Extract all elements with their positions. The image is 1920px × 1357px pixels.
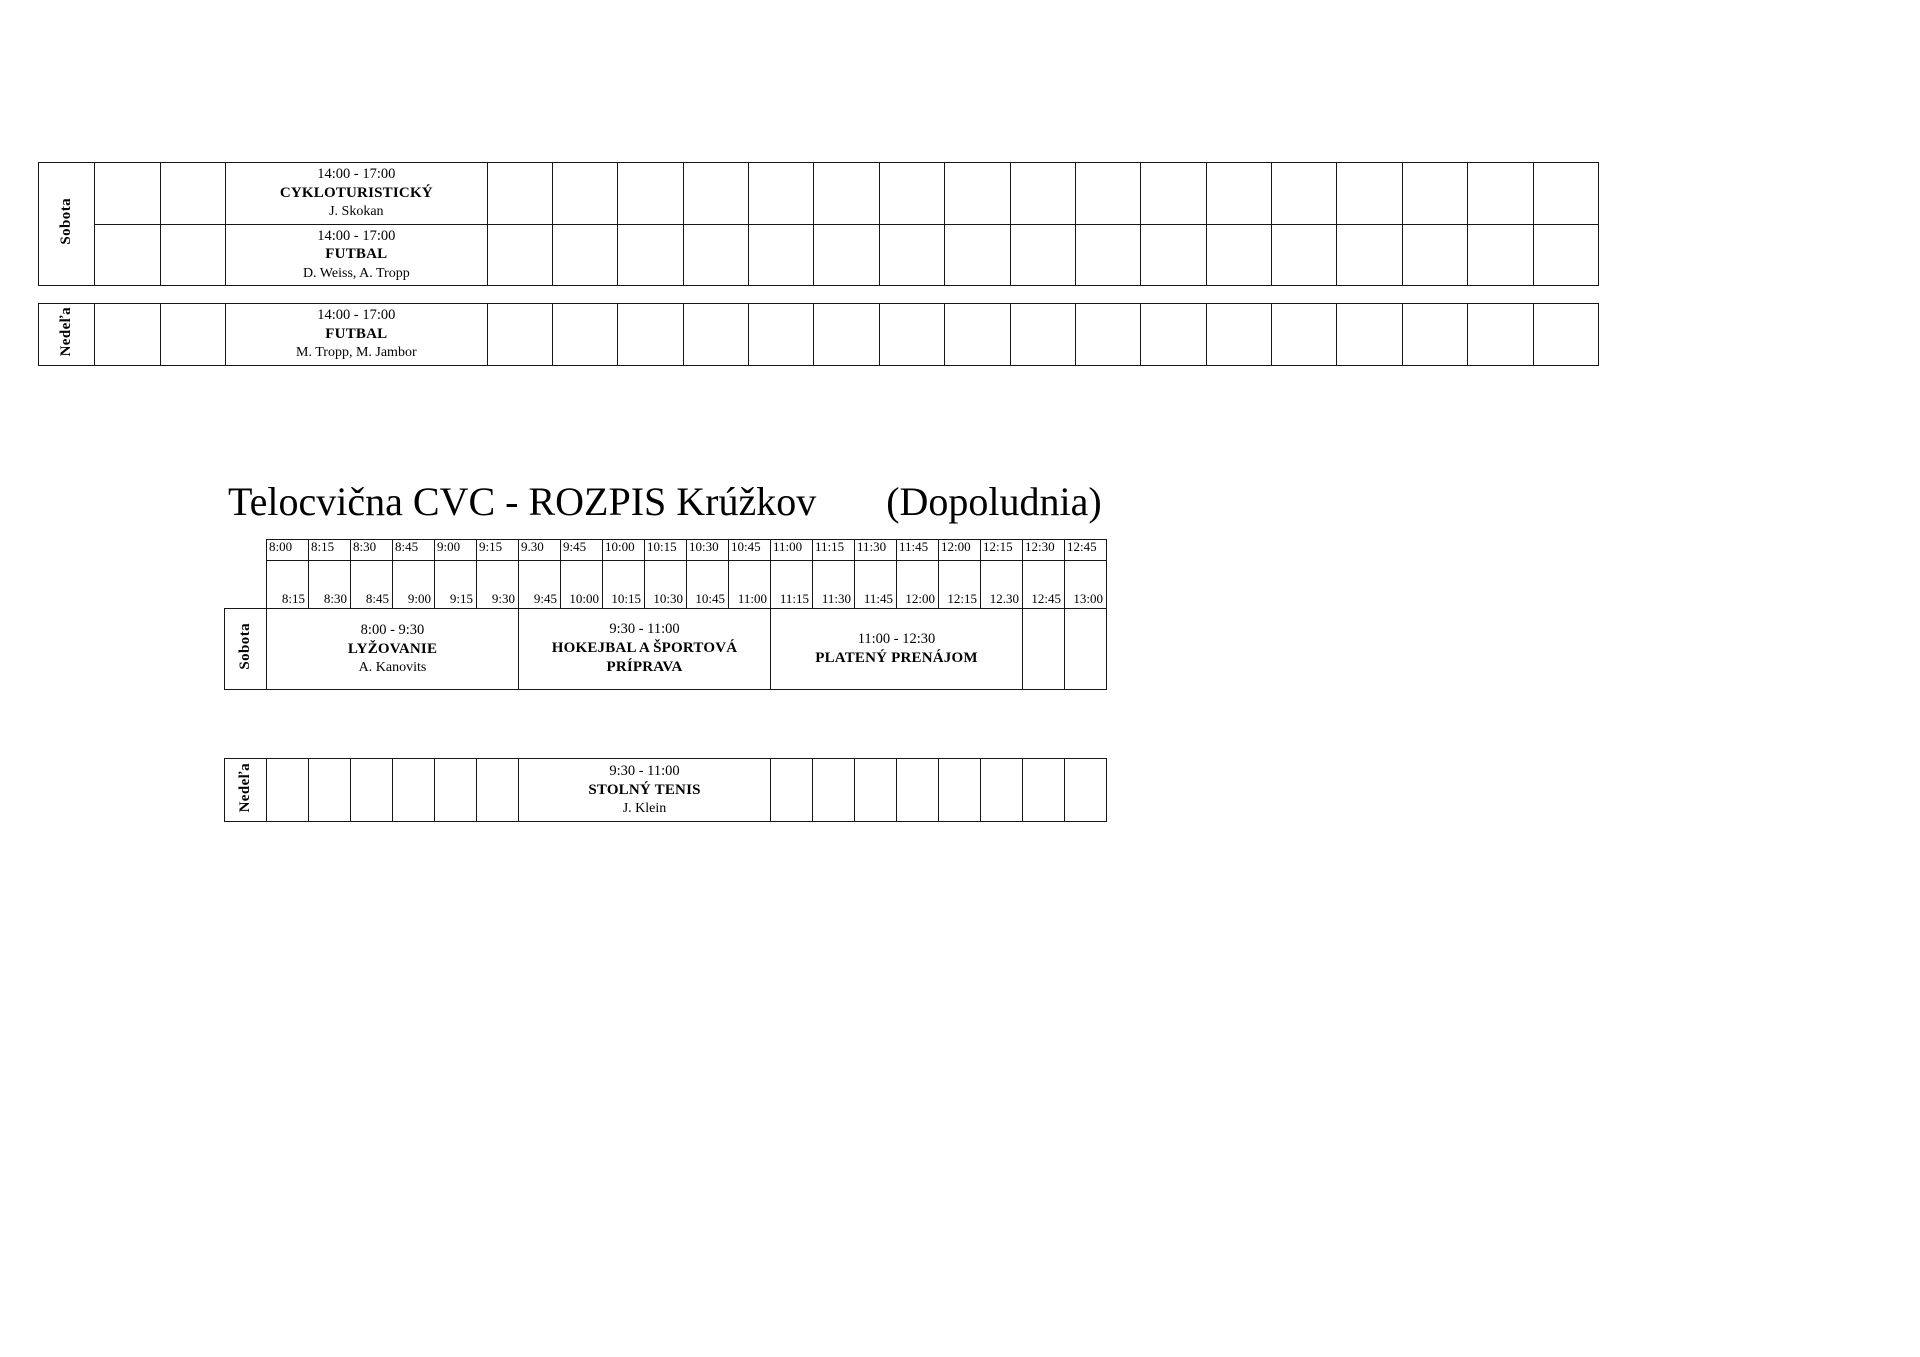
time-slot-start: 10:00: [603, 540, 645, 561]
empty-slot-cell[interactable]: [1141, 304, 1206, 366]
time-slot-end: 10:30: [645, 561, 687, 609]
empty-slot-cell[interactable]: [267, 759, 309, 822]
empty-slot-cell[interactable]: [981, 759, 1023, 822]
event-cell[interactable]: 14:00 - 17:00CYKLOTURISTICKÝJ. Skokan: [226, 163, 488, 225]
event-body: 11:00 - 12:30PLATENÝ PRENÁJOM: [771, 628, 1022, 670]
event-name: PLATENÝ PRENÁJOM: [775, 649, 1018, 669]
time-slot-end: 9:45: [519, 561, 561, 609]
time-slot-start: 10:45: [729, 540, 771, 561]
time-slot-start: 12:15: [981, 540, 1023, 561]
time-slot-end: 11:45: [855, 561, 897, 609]
empty-slot-cell[interactable]: [1272, 163, 1337, 225]
empty-slot-cell[interactable]: [618, 163, 683, 225]
time-slot-end: 8:30: [309, 561, 351, 609]
day-label: Nedeľa: [59, 307, 74, 356]
event-name: FUTBAL: [230, 245, 483, 265]
time-header-start-row: 8:008:158:308:459:009:159.309:4510:0010:…: [225, 540, 1107, 561]
empty-slot-cell[interactable]: [160, 163, 225, 225]
empty-slot-cell[interactable]: [1402, 163, 1467, 225]
time-slot-end: 11:00: [729, 561, 771, 609]
empty-slot-cell[interactable]: [879, 163, 944, 225]
event-body: 14:00 - 17:00FUTBALM. Tropp, M. Jambor: [226, 304, 487, 365]
event-cell[interactable]: 14:00 - 17:00FUTBALD. Weiss, A. Tropp: [226, 224, 488, 286]
empty-slot-cell[interactable]: [552, 304, 617, 366]
event-time: 9:30 - 11:00: [523, 620, 766, 639]
header-corner-spacer: [225, 540, 267, 561]
empty-slot-cell[interactable]: [1468, 304, 1533, 366]
empty-slot-cell[interactable]: [1402, 224, 1467, 286]
time-slot-end: 12.30: [981, 561, 1023, 609]
page-title: Telocvična CVC - ROZPIS Krúžkov (Dopolud…: [228, 478, 1102, 525]
event-time: 11:00 - 12:30: [775, 630, 1018, 649]
time-slot-end: 12:15: [939, 561, 981, 609]
event-body: 8:00 - 9:30LYŽOVANIEA. Kanovits: [267, 619, 518, 680]
table-row: Nedeľa 14:00 - 17:00FUTBALM. Tropp, M. J…: [39, 304, 1599, 366]
empty-slot-cell[interactable]: [1010, 163, 1075, 225]
day-label: Nedeľa: [238, 763, 253, 812]
event-cell[interactable]: 14:00 - 17:00FUTBALM. Tropp, M. Jambor: [226, 304, 488, 366]
time-slot-start: 11:00: [771, 540, 813, 561]
empty-slot-cell[interactable]: [95, 304, 160, 366]
empty-slot-cell[interactable]: [1075, 304, 1140, 366]
event-cell[interactable]: 8:00 - 9:30LYŽOVANIEA. Kanovits: [267, 609, 519, 690]
empty-slot-cell[interactable]: [1010, 224, 1075, 286]
event-name: HOKEJBAL A ŠPORTOVÁ PRÍPRAVA: [523, 639, 766, 678]
empty-slot-cell[interactable]: [1533, 224, 1598, 286]
day-label-cell: Sobota: [225, 609, 267, 690]
time-slot-start: 11:45: [897, 540, 939, 561]
table-row: 14:00 - 17:00FUTBALD. Weiss, A. Tropp: [39, 224, 1599, 286]
table-row: Sobota8:00 - 9:30LYŽOVANIEA. Kanovits9:3…: [225, 609, 1107, 690]
time-slot-end: 8:15: [267, 561, 309, 609]
event-cell[interactable]: 11:00 - 12:30PLATENÝ PRENÁJOM: [771, 609, 1023, 690]
event-time: 14:00 - 17:00: [230, 165, 483, 184]
event-people: J. Skokan: [230, 203, 483, 221]
afternoon-sunday-table: Nedeľa 14:00 - 17:00FUTBALM. Tropp, M. J…: [38, 303, 1599, 366]
event-body: 14:00 - 17:00FUTBALD. Weiss, A. Tropp: [226, 225, 487, 286]
empty-slot-cell[interactable]: [1206, 304, 1271, 366]
event-people: J. Klein: [523, 800, 766, 818]
empty-slot-cell[interactable]: [393, 759, 435, 822]
morning-saturday-table: 8:008:158:308:459:009:159.309:4510:0010:…: [224, 539, 1107, 690]
empty-slot-cell[interactable]: [1065, 609, 1107, 690]
empty-slot-cell[interactable]: [618, 304, 683, 366]
empty-slot-cell[interactable]: [771, 759, 813, 822]
empty-slot-cell[interactable]: [1075, 224, 1140, 286]
empty-slot-cell[interactable]: [683, 224, 748, 286]
empty-slot-cell[interactable]: [683, 304, 748, 366]
time-header-end-row: 8:158:308:459:009:159:309:4510:0010:1510…: [225, 561, 1107, 609]
empty-slot-cell[interactable]: [855, 759, 897, 822]
empty-slot-cell[interactable]: [1402, 304, 1467, 366]
event-name: STOLNÝ TENIS: [523, 781, 766, 801]
time-slot-end: 13:00: [1065, 561, 1107, 609]
day-label: Sobota: [59, 198, 74, 245]
empty-slot-cell[interactable]: [309, 759, 351, 822]
empty-slot-cell[interactable]: [1065, 759, 1107, 822]
empty-slot-cell[interactable]: [1141, 224, 1206, 286]
empty-slot-cell[interactable]: [487, 224, 552, 286]
empty-slot-cell[interactable]: [1141, 163, 1206, 225]
empty-slot-cell[interactable]: [487, 163, 552, 225]
empty-slot-cell[interactable]: [945, 304, 1010, 366]
empty-slot-cell[interactable]: [939, 759, 981, 822]
time-slot-end: 11:15: [771, 561, 813, 609]
event-name: FUTBAL: [230, 325, 483, 345]
table-row: Nedeľa 9:30 - 11:00STOLNÝ TENISJ. Klein: [225, 759, 1107, 822]
event-time: 8:00 - 9:30: [271, 621, 514, 640]
morning-sunday-table: Nedeľa 9:30 - 11:00STOLNÝ TENISJ. Klein: [224, 758, 1107, 822]
time-slot-end: 10:00: [561, 561, 603, 609]
empty-slot-cell[interactable]: [1023, 759, 1065, 822]
empty-slot-cell[interactable]: [945, 224, 1010, 286]
time-slot-start: 8:30: [351, 540, 393, 561]
empty-slot-cell[interactable]: [95, 224, 160, 286]
empty-slot-cell[interactable]: [1206, 224, 1271, 286]
time-slot-end: 9:15: [435, 561, 477, 609]
day-label-cell: Sobota: [39, 163, 95, 286]
time-slot-end: 8:45: [351, 561, 393, 609]
event-body: 9:30 - 11:00HOKEJBAL A ŠPORTOVÁ PRÍPRAVA: [519, 618, 770, 680]
header-corner-spacer: [225, 561, 267, 609]
empty-slot-cell[interactable]: [1337, 163, 1402, 225]
event-cell[interactable]: 9:30 - 11:00HOKEJBAL A ŠPORTOVÁ PRÍPRAVA: [519, 609, 771, 690]
time-slot-start: 10:30: [687, 540, 729, 561]
time-slot-start: 12:00: [939, 540, 981, 561]
time-slot-end: 9:00: [393, 561, 435, 609]
event-cell[interactable]: 9:30 - 11:00STOLNÝ TENISJ. Klein: [519, 759, 771, 822]
time-slot-end: 11:30: [813, 561, 855, 609]
empty-slot-cell[interactable]: [487, 304, 552, 366]
time-slot-start: 8:15: [309, 540, 351, 561]
event-time: 9:30 - 11:00: [523, 762, 766, 781]
time-slot-start: 12:45: [1065, 540, 1107, 561]
time-slot-start: 8:45: [393, 540, 435, 561]
empty-slot-cell[interactable]: [160, 304, 225, 366]
empty-slot-cell[interactable]: [945, 163, 1010, 225]
empty-slot-cell[interactable]: [552, 163, 617, 225]
day-label: Sobota: [238, 623, 253, 670]
empty-slot-cell[interactable]: [814, 304, 879, 366]
empty-slot-cell[interactable]: [1337, 304, 1402, 366]
empty-slot-cell[interactable]: [477, 759, 519, 822]
empty-slot-cell[interactable]: [1533, 163, 1598, 225]
empty-slot-cell[interactable]: [160, 224, 225, 286]
empty-slot-cell[interactable]: [1010, 304, 1075, 366]
empty-slot-cell[interactable]: [1272, 224, 1337, 286]
event-body: 9:30 - 11:00STOLNÝ TENISJ. Klein: [519, 760, 770, 821]
afternoon-saturday-table: Sobota 14:00 - 17:00CYKLOTURISTICKÝJ. Sk…: [38, 162, 1599, 286]
empty-slot-cell[interactable]: [618, 224, 683, 286]
schedule-sheet: Sobota 14:00 - 17:00CYKLOTURISTICKÝJ. Sk…: [0, 0, 1920, 1357]
day-label-cell: Nedeľa: [225, 759, 267, 822]
event-time: 14:00 - 17:00: [230, 227, 483, 246]
empty-slot-cell[interactable]: [749, 304, 814, 366]
table-row: Sobota 14:00 - 17:00CYKLOTURISTICKÝJ. Sk…: [39, 163, 1599, 225]
empty-slot-cell[interactable]: [1206, 163, 1271, 225]
empty-slot-cell[interactable]: [879, 304, 944, 366]
time-slot-end: 12:45: [1023, 561, 1065, 609]
empty-slot-cell[interactable]: [814, 163, 879, 225]
time-slot-start: 10:15: [645, 540, 687, 561]
empty-slot-cell[interactable]: [814, 224, 879, 286]
empty-slot-cell[interactable]: [813, 759, 855, 822]
event-body: 14:00 - 17:00CYKLOTURISTICKÝJ. Skokan: [226, 163, 487, 224]
time-slot-start: 9:45: [561, 540, 603, 561]
time-slot-end: 10:45: [687, 561, 729, 609]
event-name: CYKLOTURISTICKÝ: [230, 184, 483, 204]
time-slot-end: 12:00: [897, 561, 939, 609]
empty-slot-cell[interactable]: [95, 163, 160, 225]
empty-slot-cell[interactable]: [552, 224, 617, 286]
time-slot-start: 12:30: [1023, 540, 1065, 561]
time-slot-start: 9.30: [519, 540, 561, 561]
empty-slot-cell[interactable]: [1075, 163, 1140, 225]
event-people: A. Kanovits: [271, 659, 514, 677]
time-slot-start: 11:15: [813, 540, 855, 561]
empty-slot-cell[interactable]: [897, 759, 939, 822]
empty-slot-cell[interactable]: [1023, 609, 1065, 690]
time-slot-start: 9:00: [435, 540, 477, 561]
day-label-cell: Nedeľa: [39, 304, 95, 366]
time-slot-start: 9:15: [477, 540, 519, 561]
empty-slot-cell[interactable]: [749, 224, 814, 286]
empty-slot-cell[interactable]: [1337, 224, 1402, 286]
time-slot-end: 9:30: [477, 561, 519, 609]
empty-slot-cell[interactable]: [1272, 304, 1337, 366]
event-people: M. Tropp, M. Jambor: [230, 344, 483, 362]
time-slot-start: 8:00: [267, 540, 309, 561]
empty-slot-cell[interactable]: [683, 163, 748, 225]
empty-slot-cell[interactable]: [1468, 163, 1533, 225]
event-name: LYŽOVANIE: [271, 640, 514, 660]
empty-slot-cell[interactable]: [879, 224, 944, 286]
time-slot-start: 11:30: [855, 540, 897, 561]
empty-slot-cell[interactable]: [1533, 304, 1598, 366]
event-people: D. Weiss, A. Tropp: [230, 265, 483, 283]
empty-slot-cell[interactable]: [1468, 224, 1533, 286]
time-slot-end: 10:15: [603, 561, 645, 609]
empty-slot-cell[interactable]: [749, 163, 814, 225]
empty-slot-cell[interactable]: [351, 759, 393, 822]
empty-slot-cell[interactable]: [435, 759, 477, 822]
event-time: 14:00 - 17:00: [230, 306, 483, 325]
